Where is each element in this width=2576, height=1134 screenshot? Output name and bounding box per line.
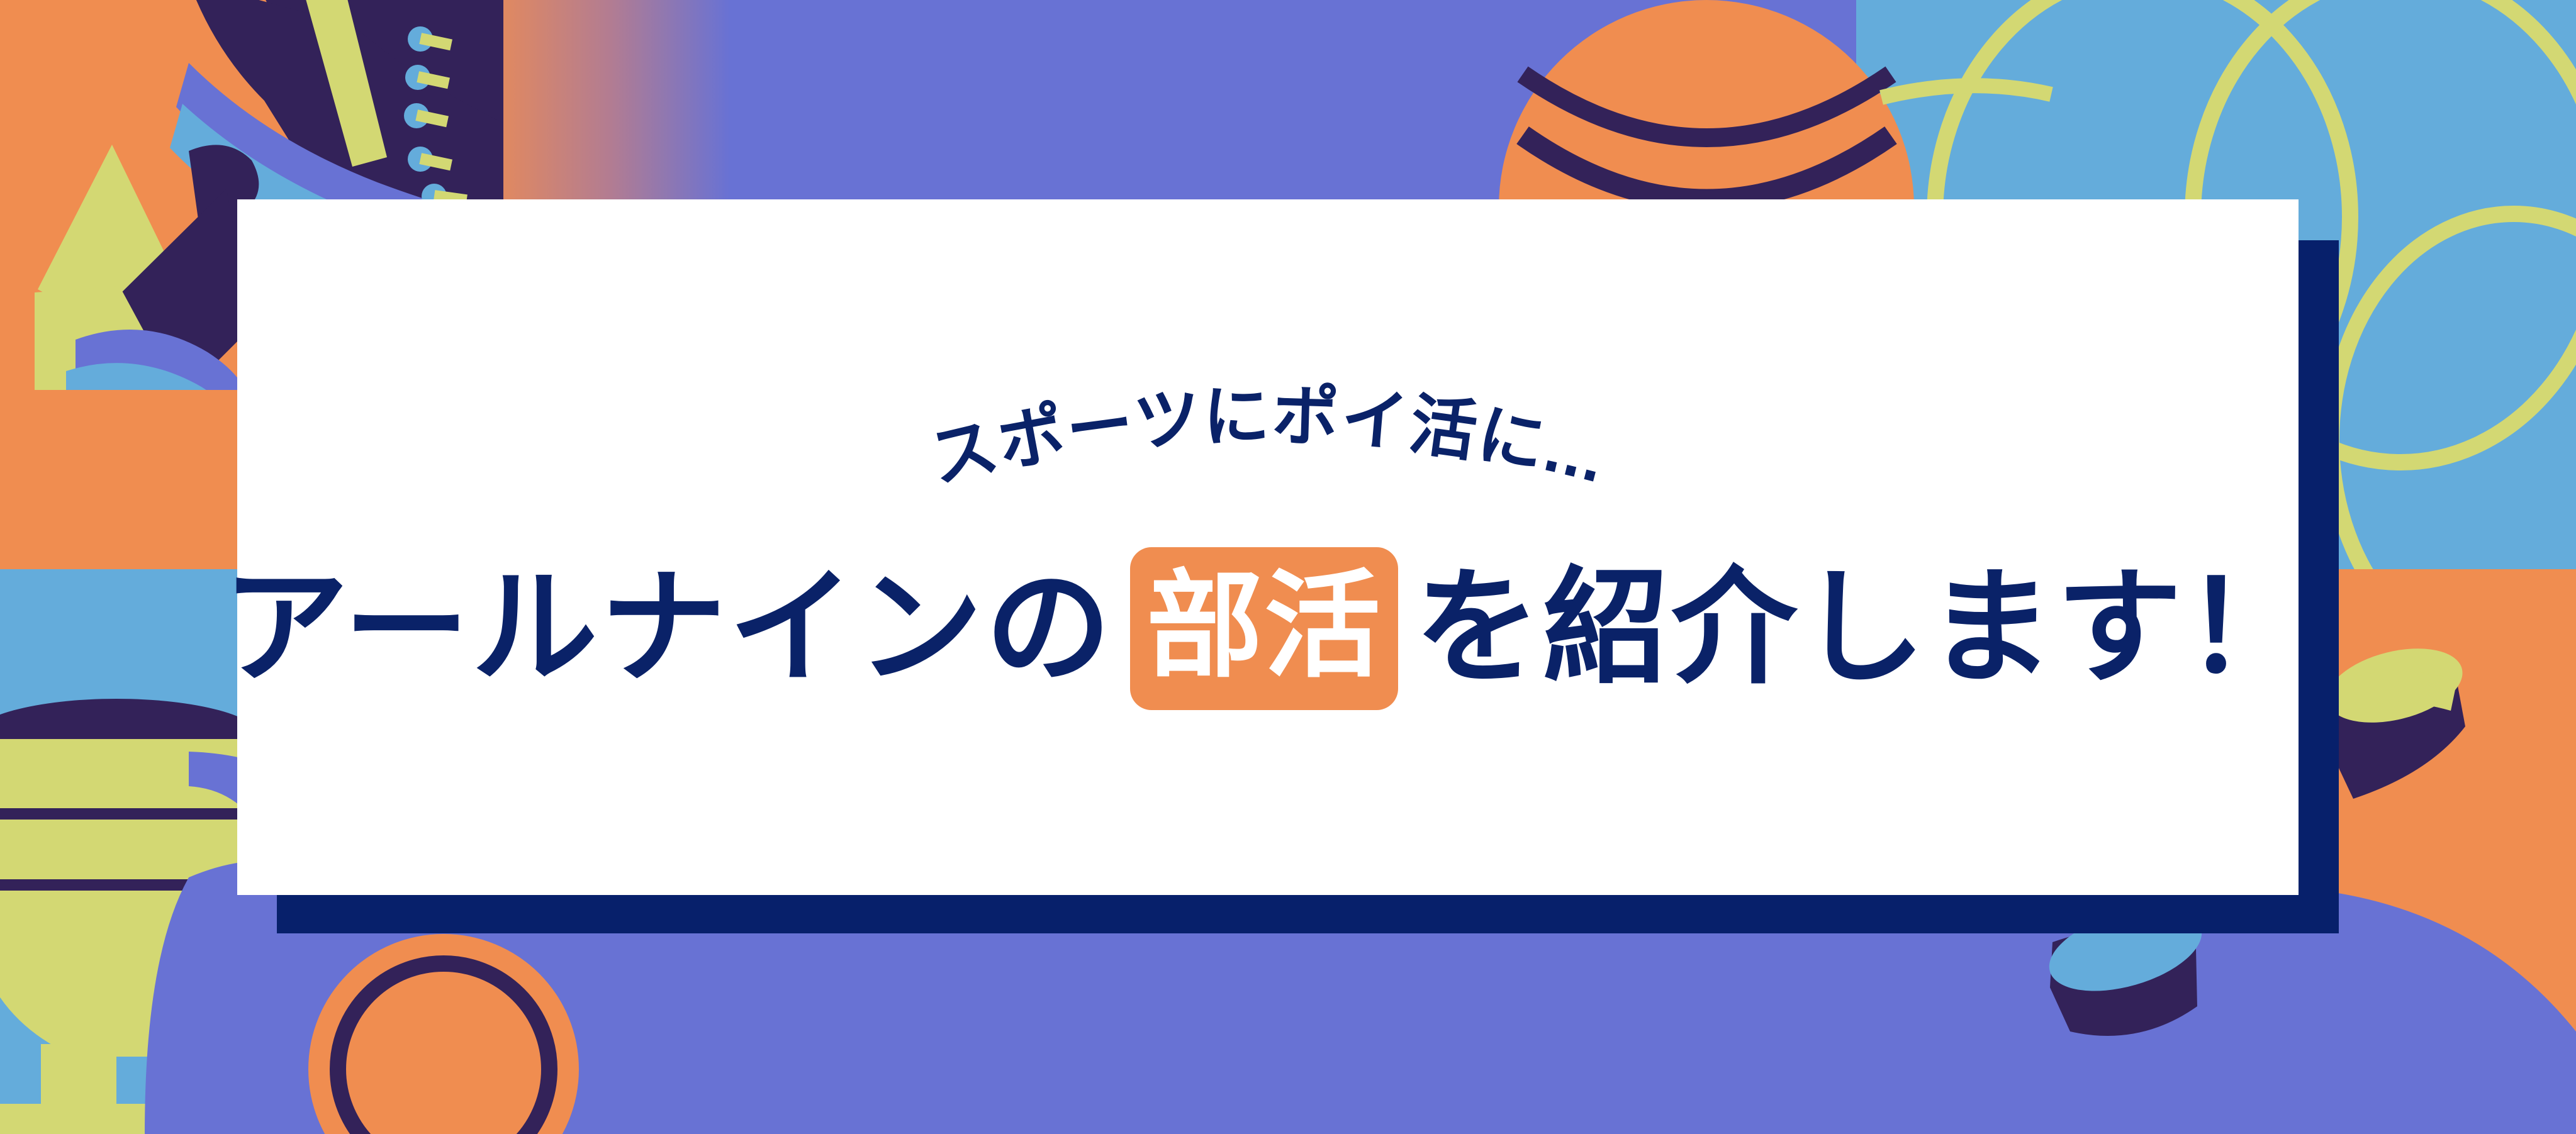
sports-club-banner: スポーツにポイ活に... アールナインの 部活 を紹介します！ xyxy=(0,0,2576,1134)
kicker-textpath: スポーツにポイ活に... xyxy=(923,379,1614,497)
card-content: スポーツにポイ活に... アールナインの 部活 を紹介します！ xyxy=(237,199,2299,895)
kicker-arched-text: スポーツにポイ活に... xyxy=(752,385,1784,536)
kicker-text: スポーツにポイ活に... xyxy=(923,379,1614,497)
headline-badge: 部活 xyxy=(1130,547,1398,710)
headline-suffix: を紹介します！ xyxy=(1414,565,2313,691)
headline: アールナインの 部活 を紹介します！ xyxy=(223,547,2313,710)
headline-prefix: アールナインの xyxy=(223,565,1114,691)
